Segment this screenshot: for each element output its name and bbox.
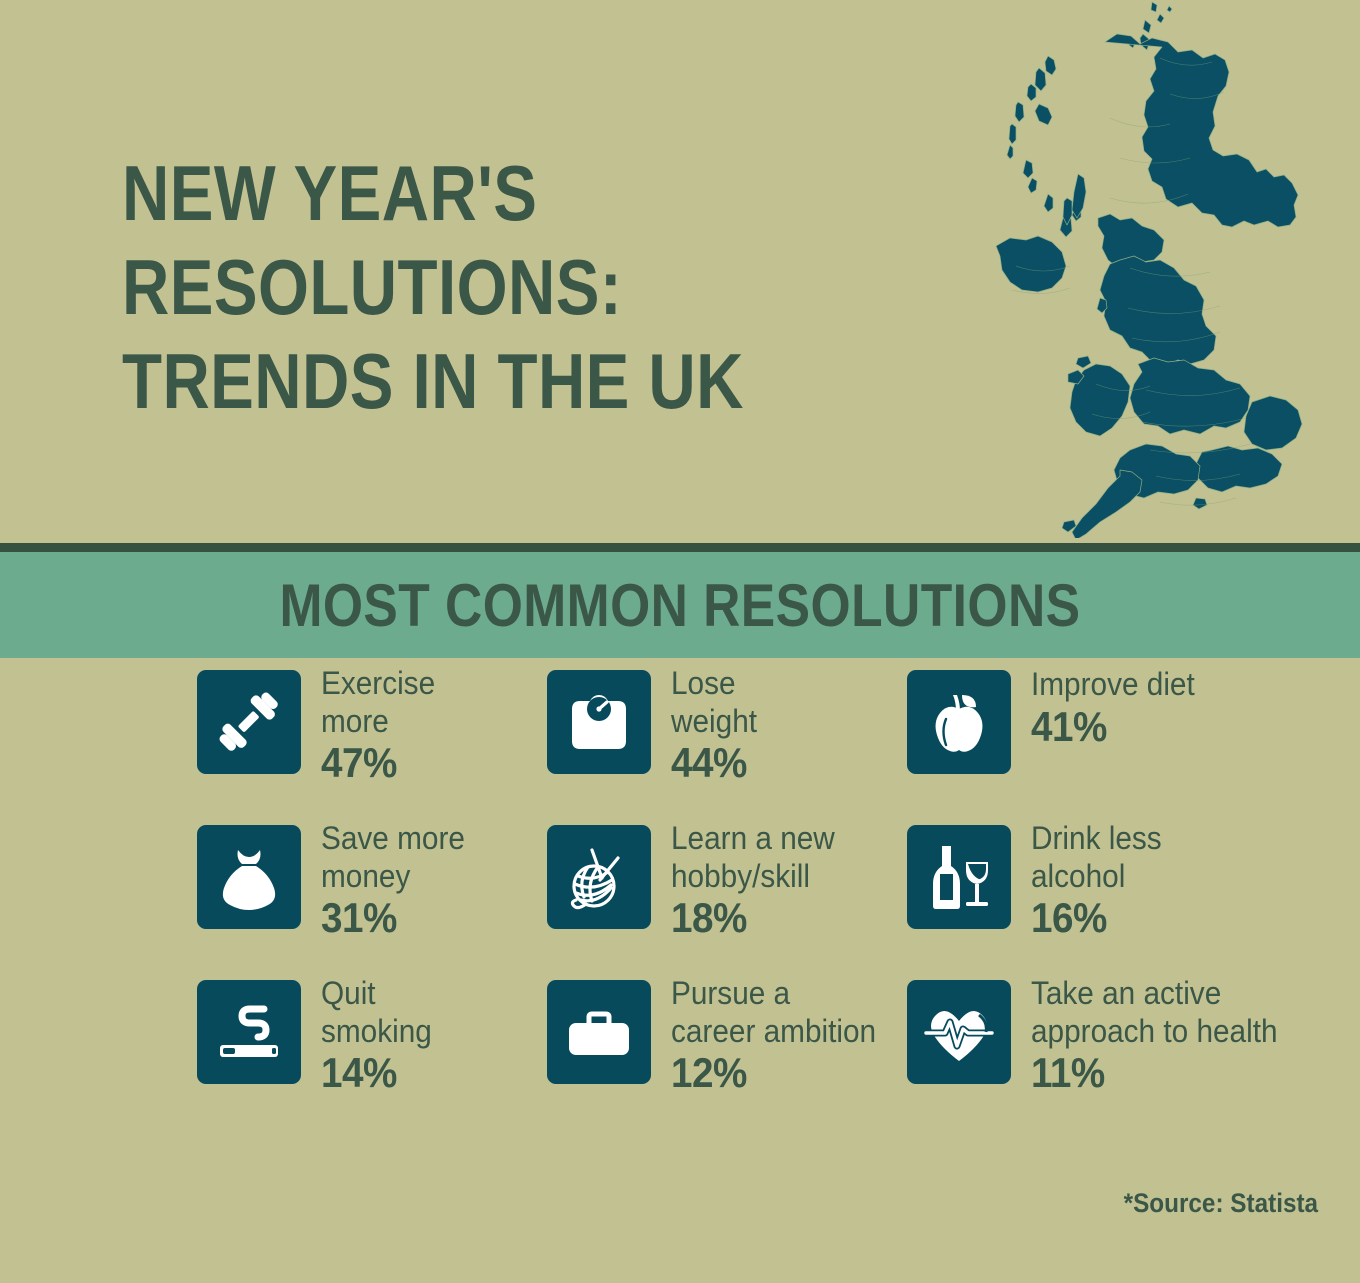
resolutions-column-2: Lose weight 44% <box>547 670 897 1135</box>
resolution-item-learn-hobby[interactable]: Learn a new hobby/skill 18% <box>547 825 897 960</box>
resolution-percent: 16% <box>1031 896 1303 940</box>
resolution-text: Lose weight 44% <box>671 664 897 785</box>
resolution-item-lose-weight[interactable]: Lose weight 44% <box>547 670 897 805</box>
resolution-item-save-more-money[interactable]: Save more money 31% <box>197 825 527 960</box>
resolution-percent: 11% <box>1031 1051 1303 1095</box>
resolution-percent: 47% <box>321 741 511 785</box>
resolution-label: Improve diet <box>1031 664 1306 704</box>
bottle-wine-icon <box>907 825 1011 929</box>
resolution-percent: 44% <box>671 741 879 785</box>
apple-icon <box>907 670 1011 774</box>
banner-divider <box>0 543 1360 552</box>
resolution-text: Drink less alcohol 16% <box>1031 819 1327 940</box>
page-title: NEW YEAR'S RESOLUTIONS: TRENDS IN THE UK <box>122 146 811 428</box>
resolution-percent: 12% <box>671 1051 879 1095</box>
resolutions-grid: Exercise more 47% Save more money 31% <box>0 670 1360 1170</box>
resolution-label: Learn a new hobby/skill <box>671 819 881 895</box>
united-kingdom-map-icon <box>960 0 1360 538</box>
resolution-text: Learn a new hobby/skill 18% <box>671 819 897 940</box>
resolutions-column-1: Exercise more 47% Save more money 31% <box>197 670 527 1135</box>
banner-title: MOST COMMON RESOLUTIONS <box>95 552 1265 658</box>
resolution-item-drink-less-alcohol[interactable]: Drink less alcohol 16% <box>907 825 1327 960</box>
briefcase-icon <box>547 980 651 1084</box>
resolution-item-improve-diet[interactable]: Improve diet 41% <box>907 670 1327 805</box>
cigarette-icon <box>197 980 301 1084</box>
resolution-label: Exercise more <box>321 664 513 740</box>
resolution-text: Improve diet 41% <box>1031 664 1327 749</box>
header-section: NEW YEAR'S RESOLUTIONS: TRENDS IN THE UK <box>0 0 1360 543</box>
money-bag-icon <box>197 825 301 929</box>
resolution-percent: 41% <box>1031 705 1303 749</box>
resolution-label: Quit smoking <box>321 974 513 1050</box>
resolution-text: Pursue a career ambition 12% <box>671 974 897 1095</box>
resolution-label: Lose weight <box>671 664 881 740</box>
banner-section: MOST COMMON RESOLUTIONS <box>0 552 1360 658</box>
resolution-text: Take an active approach to health 11% <box>1031 974 1327 1095</box>
dumbbell-icon <box>197 670 301 774</box>
weighing-scale-icon <box>547 670 651 774</box>
resolution-item-quit-smoking[interactable]: Quit smoking 14% <box>197 980 527 1115</box>
resolution-text: Exercise more 47% <box>321 664 527 785</box>
resolution-label: Drink less alcohol <box>1031 819 1306 895</box>
resolution-percent: 18% <box>671 896 879 940</box>
source-note: *Source: Statista <box>1124 1188 1318 1219</box>
resolution-percent: 31% <box>321 896 511 940</box>
infographic-root: NEW YEAR'S RESOLUTIONS: TRENDS IN THE UK <box>0 0 1360 1283</box>
resolutions-column-3: Improve diet 41% <box>907 670 1327 1135</box>
resolution-percent: 14% <box>321 1051 511 1095</box>
resolution-label: Take an active approach to health <box>1031 974 1306 1050</box>
resolution-text: Save more money 31% <box>321 819 527 940</box>
resolution-item-active-health[interactable]: Take an active approach to health 11% <box>907 980 1327 1115</box>
resolution-label: Pursue a career ambition <box>671 974 881 1050</box>
heart-pulse-icon <box>907 980 1011 1084</box>
yarn-ball-icon <box>547 825 651 929</box>
resolution-label: Save more money <box>321 819 513 895</box>
resolution-item-exercise-more[interactable]: Exercise more 47% <box>197 670 527 805</box>
resolution-text: Quit smoking 14% <box>321 974 527 1095</box>
resolution-item-career-ambition[interactable]: Pursue a career ambition 12% <box>547 980 897 1115</box>
